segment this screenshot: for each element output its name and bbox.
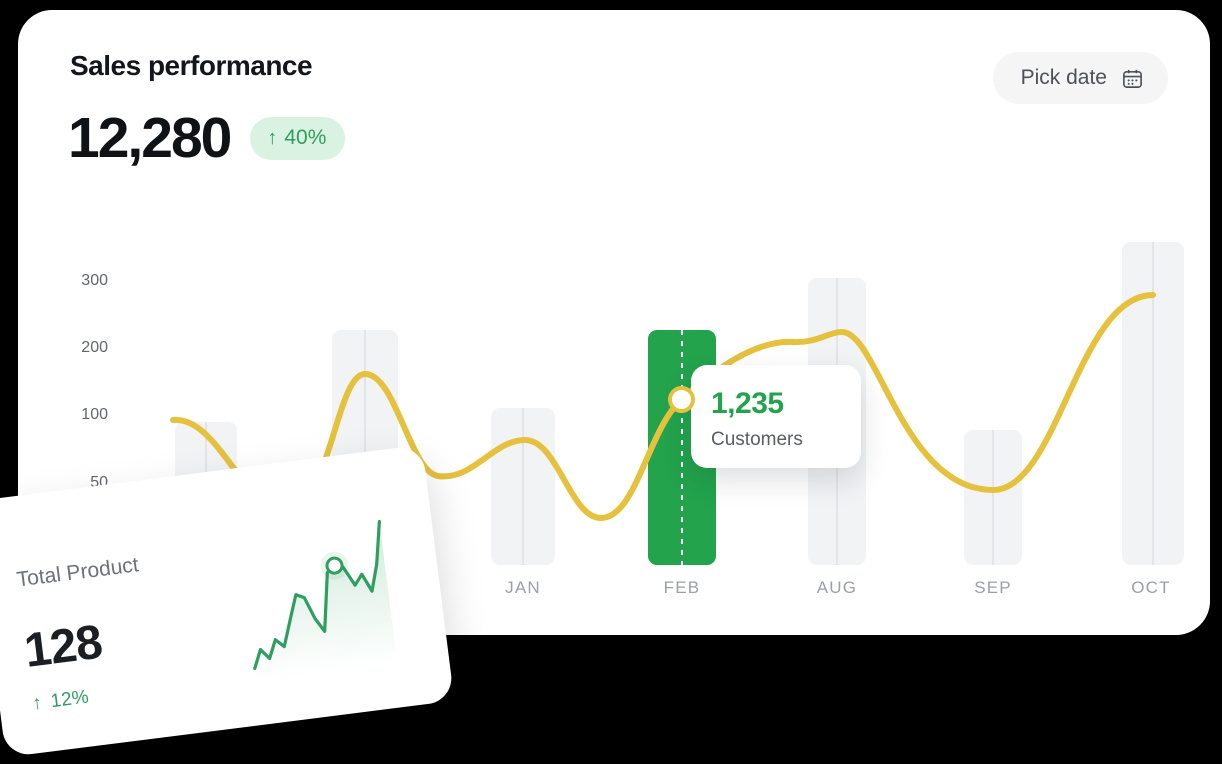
x-label-aug: AUG [782, 578, 892, 598]
total-product-sparkline [229, 502, 428, 683]
tooltip-value: 1,235 [711, 387, 861, 421]
active-bar-dashed-line [681, 330, 683, 565]
chart-bar[interactable] [491, 408, 555, 565]
sparkline-area [238, 522, 397, 683]
x-label-jan: JAN [468, 578, 578, 598]
bar-stem [1153, 242, 1154, 565]
x-label-feb: FEB [627, 578, 737, 598]
bar-stem [993, 430, 994, 565]
x-label-sep: SEP [938, 578, 1048, 598]
active-data-point[interactable] [668, 386, 695, 413]
bar-stem [523, 408, 524, 565]
chart-bar-oct[interactable] [1122, 242, 1184, 565]
total-product-card[interactable]: Total Product 128 ↑ 12% [0, 445, 454, 758]
chart-tooltip: 1,235 Customers [691, 365, 861, 468]
tooltip-label: Customers [711, 429, 861, 451]
chart-bar-sep[interactable] [964, 430, 1022, 565]
x-label-oct: OCT [1096, 578, 1206, 598]
arrow-up-icon: ↑ [31, 692, 43, 715]
total-product-title: Total Product [15, 553, 140, 592]
sparkline-marker [326, 557, 343, 574]
y-tick-100: 100 [68, 406, 108, 424]
y-tick-200: 200 [68, 339, 108, 357]
screenshot-root: Sales performance 12,280 ↑ 40% Pick date [0, 0, 1222, 764]
total-product-value: 128 [21, 615, 104, 679]
total-product-growth: ↑ 12% [31, 687, 90, 716]
total-product-growth-value: 12% [50, 687, 90, 714]
y-tick-300: 300 [68, 272, 108, 290]
